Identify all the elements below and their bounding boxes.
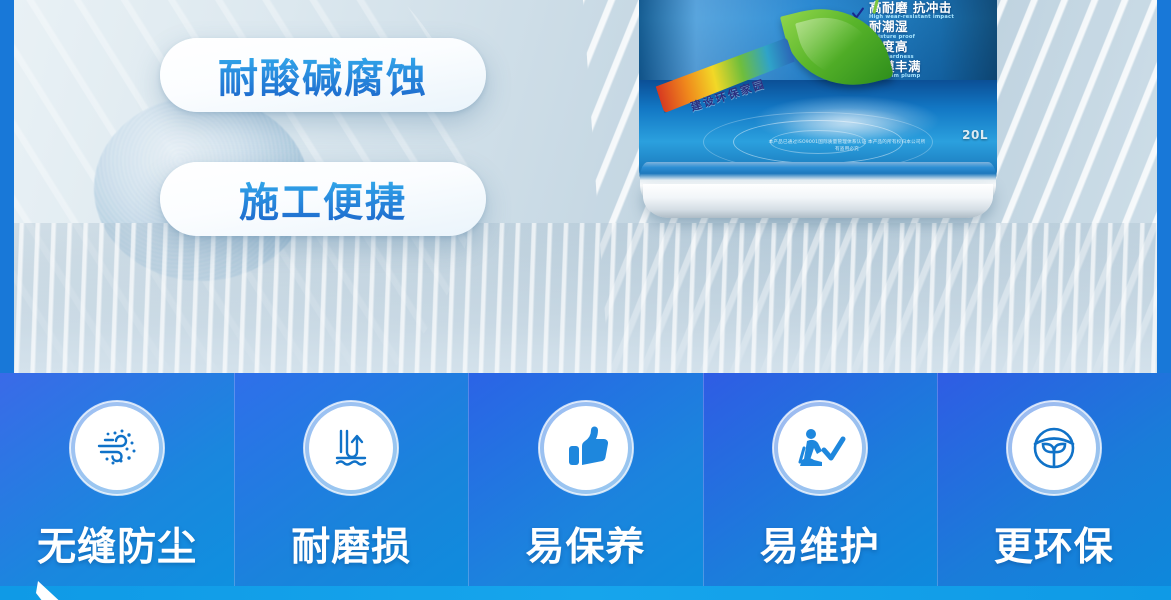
- product-feature-cn: 高耐磨 抗冲击: [869, 2, 954, 15]
- paint-bucket-image: 水性环保涂料 Waterborn environmental Coatings …: [639, 0, 997, 246]
- bottom-accent-strip: [0, 586, 1171, 600]
- promo-page: 耐酸碱腐蚀 施工便捷 水性环保涂料 Waterborn environmenta…: [0, 0, 1171, 600]
- hero-section: 耐酸碱腐蚀 施工便捷 水性环保涂料 Waterborn environmenta…: [0, 0, 1171, 373]
- feature-cell-label: 易保养: [526, 516, 646, 572]
- feature-cell-wear-resistant[interactable]: 耐磨损: [234, 373, 468, 586]
- feature-cell-eco-friendly[interactable]: 更环保: [937, 373, 1171, 586]
- feature-badge-label: 耐酸碱腐蚀: [218, 46, 428, 104]
- hero-background: 耐酸碱腐蚀 施工便捷 水性环保涂料 Waterborn environmenta…: [14, 0, 1157, 373]
- feature-cell-easy-repair[interactable]: 易维护: [703, 373, 937, 586]
- feature-cell-label: 更环保: [994, 516, 1114, 572]
- feature-badge-label: 施工便捷: [239, 170, 407, 228]
- chevron-right-icon: [36, 581, 82, 600]
- feature-cell-easy-maintain[interactable]: 易保养: [468, 373, 702, 586]
- volume-label: 20L: [962, 128, 988, 142]
- bucket-base: [643, 184, 993, 218]
- feature-cell-label: 耐磨损: [291, 516, 411, 572]
- certification-smallprint: 本产品已通过ISO9001国际质量管理体系认证 本产品的所有权归本公司所有盗用必…: [767, 140, 927, 154]
- feature-bar: 无缝防尘 耐磨损: [0, 373, 1171, 586]
- feature-cell-label: 无缝防尘: [37, 516, 197, 572]
- feature-cell-label: 易维护: [760, 516, 880, 572]
- feature-cell-dustproof[interactable]: 无缝防尘: [0, 373, 234, 586]
- dust-wind-icon: [75, 406, 159, 490]
- feature-badge-acid-alkali[interactable]: 耐酸碱腐蚀: [160, 38, 486, 112]
- worker-check-icon: [778, 406, 862, 490]
- wear-resistance-icon: [309, 406, 393, 490]
- eco-sprout-icon: [1012, 406, 1096, 490]
- thumbs-up-icon: [544, 406, 628, 490]
- feature-badge-easy-construction[interactable]: 施工便捷: [160, 162, 486, 236]
